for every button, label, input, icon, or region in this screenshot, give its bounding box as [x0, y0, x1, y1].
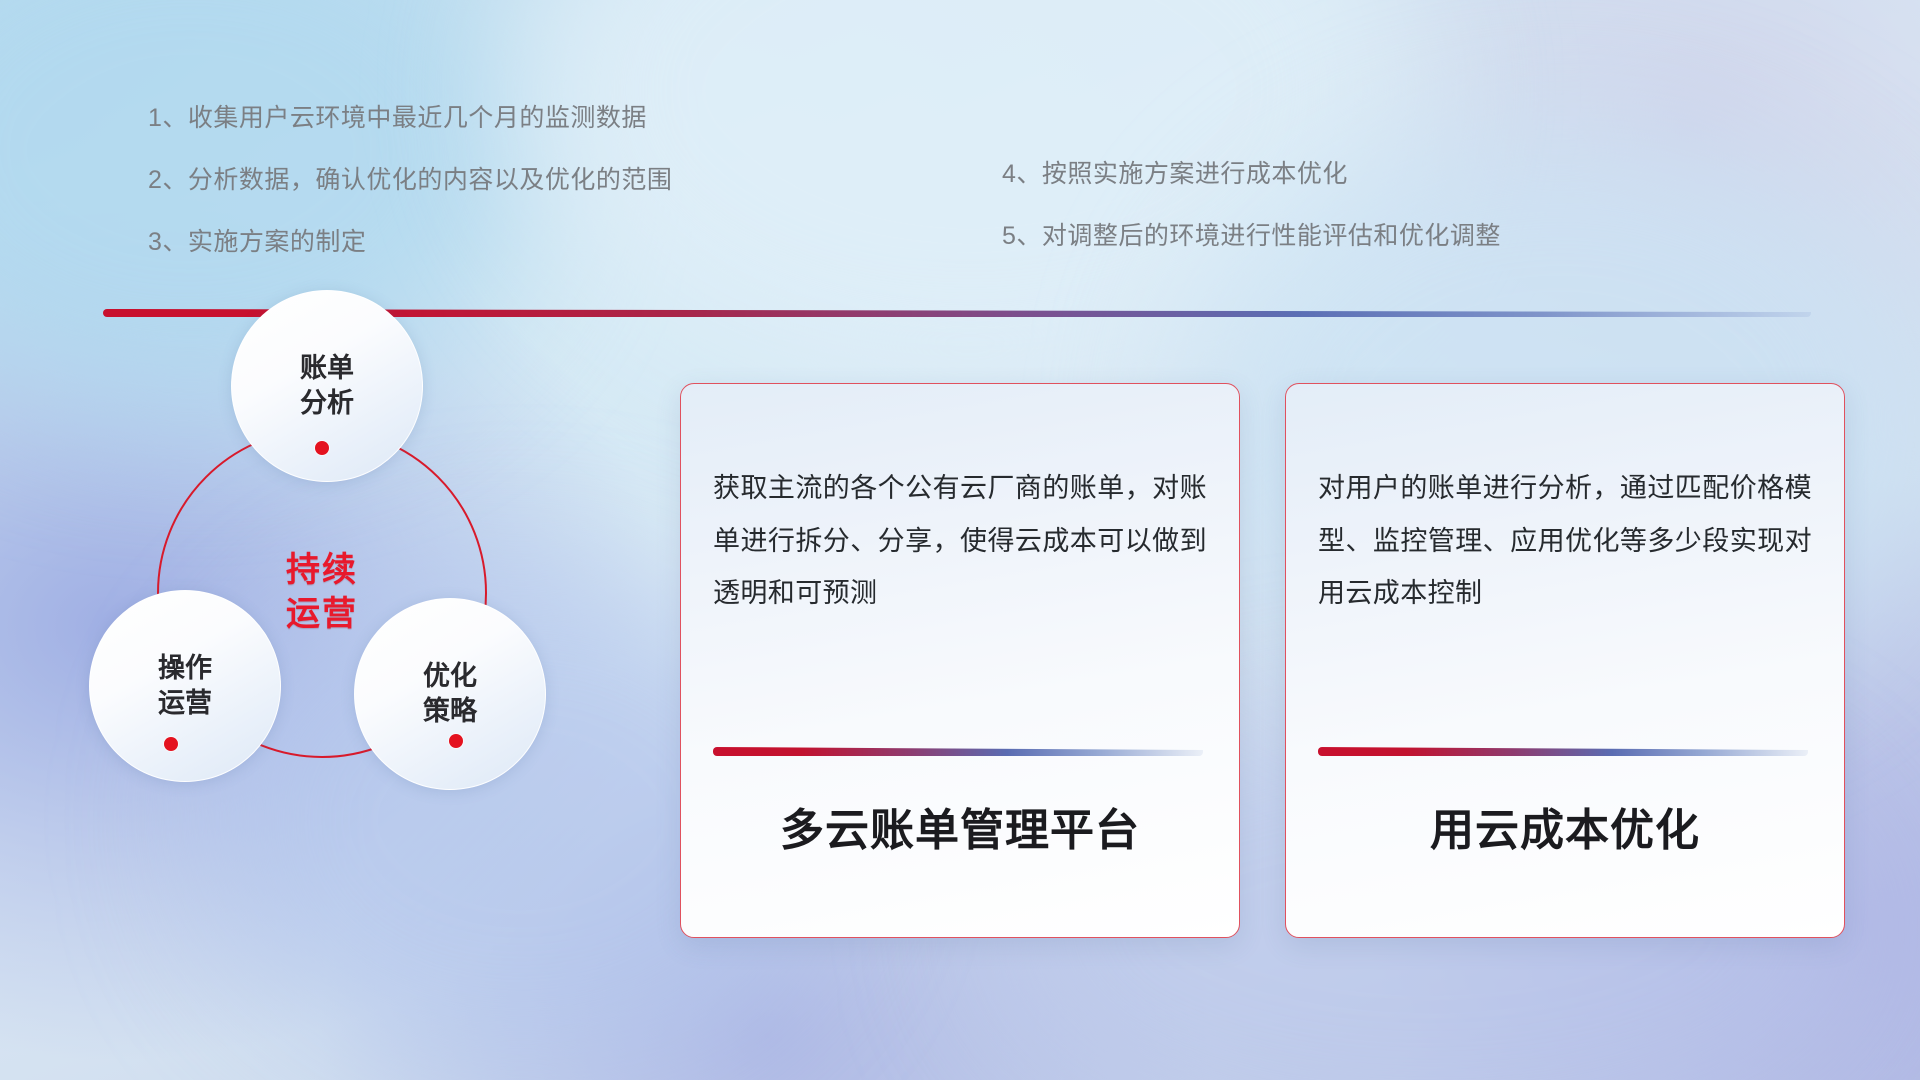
bullet-list-left: 1、收集用户云环境中最近几个月的监测数据 2、分析数据，确认优化的内容以及优化的… — [148, 98, 672, 284]
venn-node-right-dot-icon — [449, 734, 463, 748]
bullet-item-4: 4、按照实施方案进行成本优化 — [1002, 154, 1501, 190]
card-cloud-cost-optimization[interactable]: 对用户的账单进行分析，通过匹配价格模型、监控管理、应用优化等多少段实现对用云成本… — [1285, 383, 1845, 938]
venn-lobe-bill-analysis-line1: 账单 — [300, 351, 354, 386]
venn-center-label-line1: 持续 — [286, 549, 358, 593]
card-2-body: 对用户的账单进行分析，通过匹配价格模型、监控管理、应用优化等多少段实现对用云成本… — [1318, 462, 1812, 620]
bullet-item-5: 5、对调整后的环境进行性能评估和优化调整 — [1002, 216, 1501, 252]
card-1-accent-rule — [713, 747, 1203, 756]
card-1-body: 获取主流的各个公有云厂商的账单，对账单进行拆分、分享，使得云成本可以做到透明和可… — [713, 462, 1207, 620]
venn-diagram: 账单 分析 操作 运营 优化 策略 持续 运营 — [95, 340, 625, 940]
slide-canvas: 1、收集用户云环境中最近几个月的监测数据 2、分析数据，确认优化的内容以及优化的… — [0, 0, 1920, 1080]
venn-center-label-line2: 运营 — [286, 593, 358, 637]
bullet-item-2: 2、分析数据，确认优化的内容以及优化的范围 — [148, 160, 672, 196]
venn-node-left-dot-icon — [164, 737, 178, 751]
card-1-title: 多云账单管理平台 — [681, 794, 1239, 858]
venn-node-top-dot-icon — [315, 441, 329, 455]
bullet-item-1: 1、收集用户云环境中最近几个月的监测数据 — [148, 98, 672, 134]
card-multicloud-billing-platform[interactable]: 获取主流的各个公有云厂商的账单，对账单进行拆分、分享，使得云成本可以做到透明和可… — [680, 383, 1240, 938]
card-2-title: 用云成本优化 — [1286, 794, 1844, 858]
bullet-item-3: 3、实施方案的制定 — [148, 222, 672, 258]
card-2-accent-rule — [1318, 747, 1808, 756]
bullet-list-right: 4、按照实施方案进行成本优化 5、对调整后的环境进行性能评估和优化调整 — [1002, 154, 1501, 278]
venn-center-label: 持续 运营 — [157, 428, 487, 758]
venn-lobe-bill-analysis-line2: 分析 — [300, 386, 354, 421]
